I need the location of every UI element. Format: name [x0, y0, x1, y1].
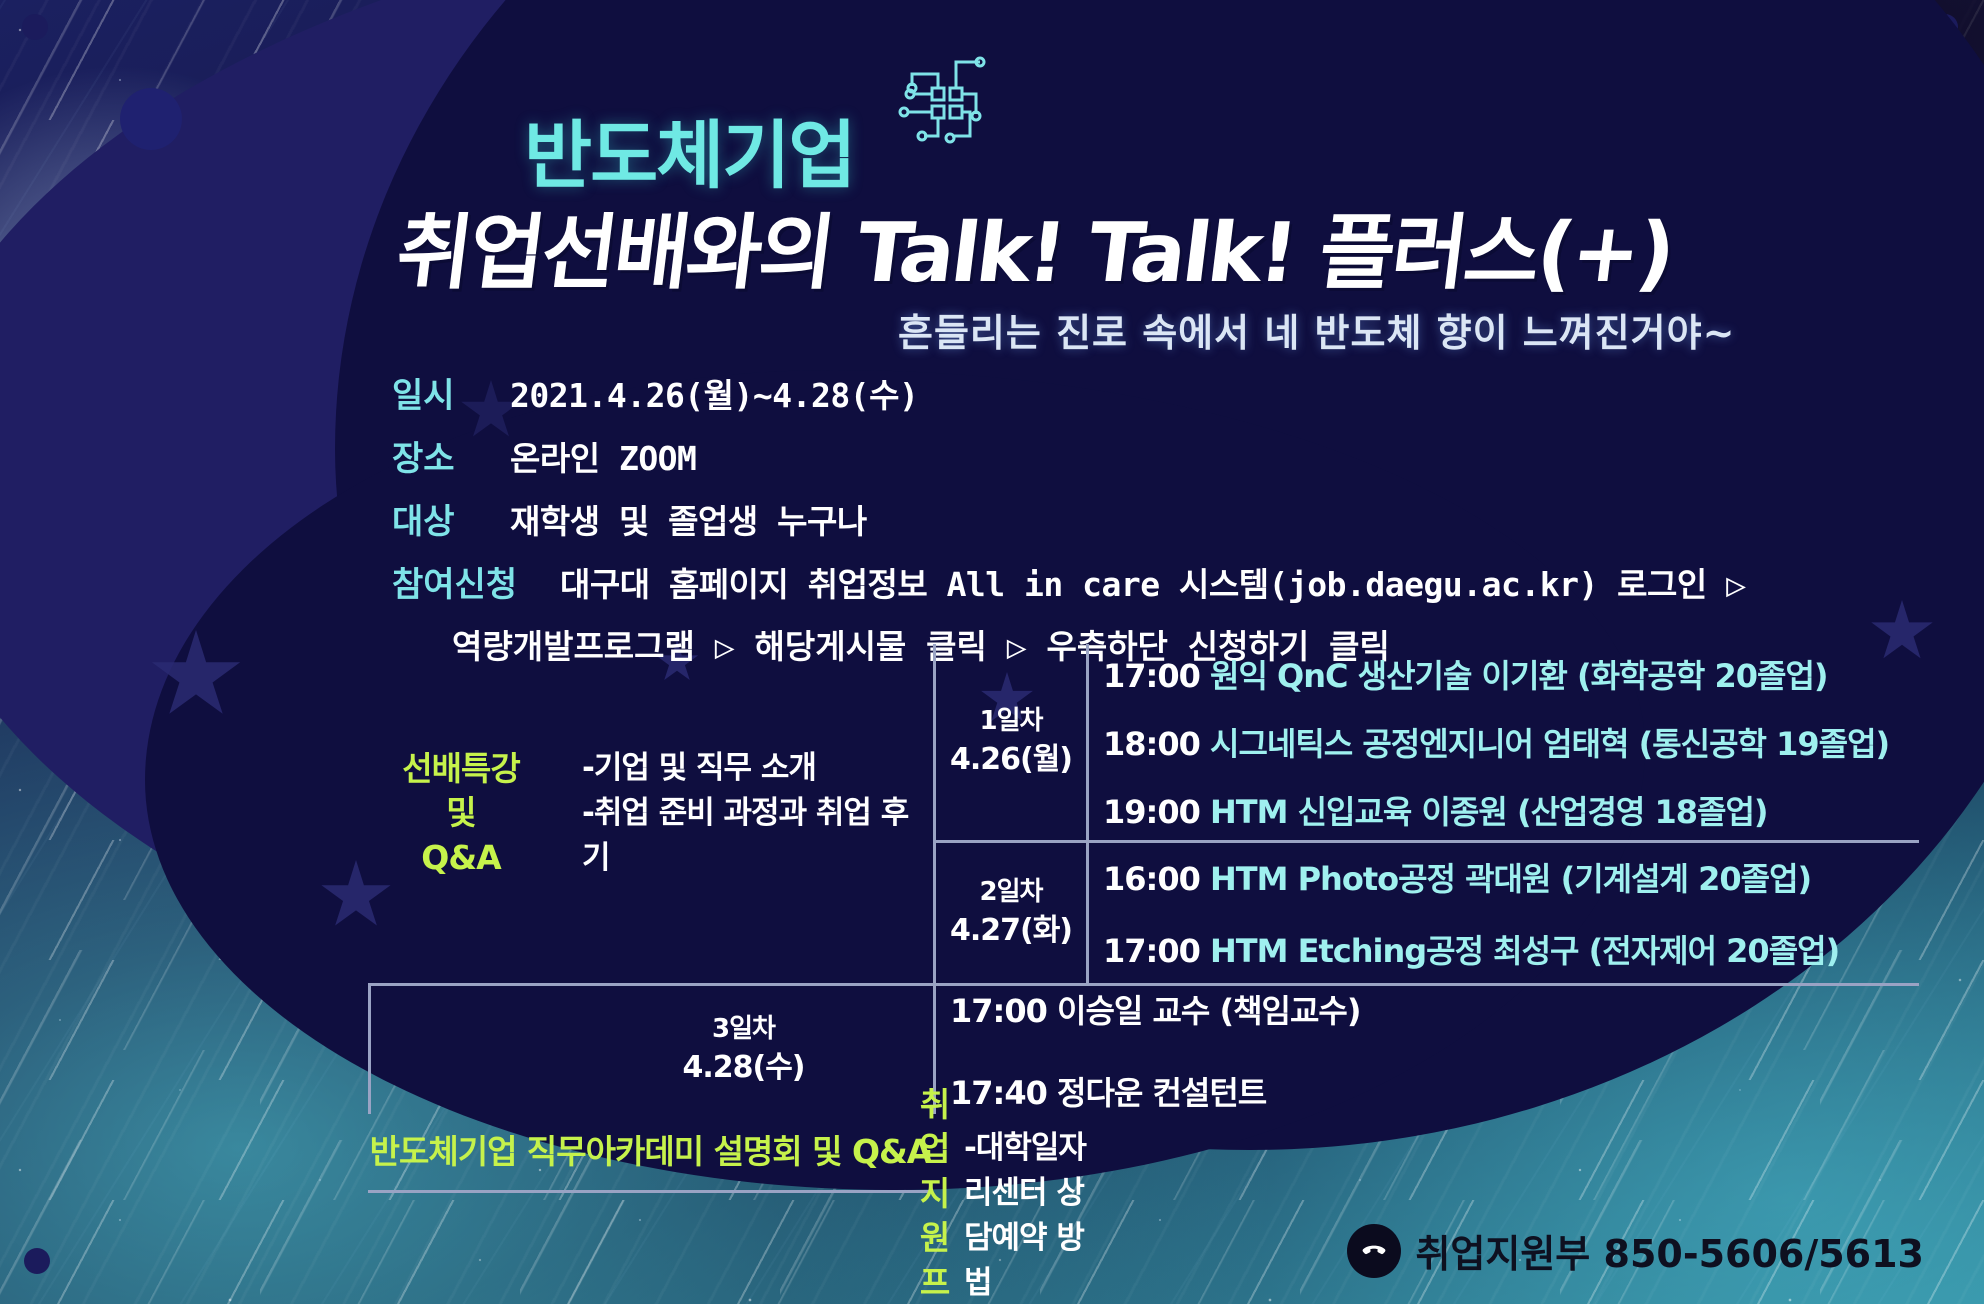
category-line: 선배특강: [402, 747, 519, 792]
session-row: 17:00 이승일 교수 (책임교수): [950, 986, 1086, 1032]
poster-root: 반도체기업: [0, 0, 1984, 1304]
description-line: -기업 및 직무 소개: [582, 746, 933, 791]
contact-block: 취업지원부 850-5606/5613: [1347, 1223, 1924, 1278]
schedule-sessions-day-1: 17:00 원익 QnC 생산기술 이기환 (화학공학 20졸업) 18:00 …: [1089, 644, 1919, 840]
schedule-block-1: 선배특강 및 Q&A -기업 및 직무 소개 -취업 준비 과정과 취업 후기: [368, 644, 1919, 983]
poster-content: 반도체기업: [0, 0, 1984, 1304]
info-value: 재학생 및 졸업생 누구나: [510, 495, 867, 543]
session-time: 16:00: [1103, 860, 1200, 898]
info-value: 대구대 홈페이지 취업정보 All in care 시스템(job.daegu.…: [560, 558, 1746, 606]
session-row: 17:40 정다운 컨설턴트: [950, 1068, 1086, 1114]
session-text: HTM Photo공정 곽대원 (기계설계 20졸업): [1210, 860, 1811, 898]
session-text: HTM Etching공정 최성구 (전자제어 20졸업): [1210, 932, 1839, 970]
session-time: 17:40: [950, 1074, 1047, 1112]
schedule-description: -대학일자리센터 상담예약 방법 -청년고용정책 안내: [964, 1126, 1086, 1304]
schedule-banner-cell: 반도체기업 직무아카데미 설명회 및 Q&A: [368, 1114, 933, 1190]
table-vertical-rule: [368, 986, 371, 1114]
info-label: 참여신청: [392, 557, 560, 606]
info-row-audience: 대상 재학생 및 졸업생 누구나: [392, 494, 1746, 543]
session-row: 16:00 HTM Photo공정 곽대원 (기계설계 20졸업): [1103, 854, 1919, 900]
day-date: 4.26(월): [950, 739, 1072, 781]
schedule-table: 선배특강 및 Q&A -기업 및 직무 소개 -취업 준비 과정과 취업 후기: [368, 644, 1919, 1304]
session-text: HTM 신입교육 이종원 (산업경영 18졸업): [1210, 793, 1768, 831]
tagline: 흔들리는 진로 속에서 네 반도체 향이 느껴진거야~: [898, 302, 1735, 357]
schedule-description: -기업 및 직무 소개 -취업 준비 과정과 취업 후기: [582, 746, 933, 881]
day-number: 1일차: [950, 703, 1072, 739]
schedule-day-label: 2일차 4.27(화): [950, 874, 1072, 952]
schedule-category-label: 선배특강 및 Q&A: [402, 747, 519, 881]
category-line: Q&A: [402, 836, 519, 881]
contact-text: 취업지원부 850-5606/5613: [1415, 1223, 1924, 1278]
table-horizontal-rule: [368, 1190, 933, 1193]
info-row-apply: 참여신청 대구대 홈페이지 취업정보 All in care 시스템(job.d…: [392, 557, 1746, 606]
category-line: 및: [402, 791, 519, 836]
session-text: 원익 QnC 생산기술 이기환 (화학공학 20졸업): [1210, 657, 1828, 695]
info-value: 2021.4.26(월)~4.28(수): [510, 369, 918, 417]
session-row: 17:00 HTM Etching공정 최성구 (전자제어 20졸업): [1103, 926, 1919, 972]
session-text: 정다운 컨설턴트: [1057, 1074, 1266, 1112]
info-row-date: 일시 2021.4.26(월)~4.28(수): [392, 368, 1746, 417]
schedule-day-cell-2: 2일차 4.27(화): [936, 843, 1086, 983]
schedule-day-label: 1일차 4.26(월): [950, 703, 1072, 781]
circuit-chip-icon: [888, 52, 998, 156]
day-number: 3일차: [682, 1011, 804, 1047]
session-time: 18:00: [1103, 725, 1200, 763]
session-row: 18:00 시그네틱스 공정엔지니어 엄태혁 (통신공학 19졸업): [1103, 719, 1919, 765]
schedule-description-cell-2: -대학일자리센터 상담예약 방법 -청년고용정책 안내: [936, 1190, 1086, 1304]
schedule-description-cell: -기업 및 직무 소개 -취업 준비 과정과 취업 후기: [554, 644, 933, 983]
day-number: 2일차: [950, 874, 1072, 910]
session-text: 시그네틱스 공정엔지니어 엄태혁 (통신공학 19졸업): [1210, 725, 1889, 763]
session-text: 이승일 교수 (책임교수): [1057, 992, 1361, 1030]
session-row: 17:00 원익 QnC 생산기술 이기환 (화학공학 20졸업): [1103, 651, 1919, 697]
schedule-day-cell-1: 1일차 4.26(월): [936, 644, 1086, 840]
schedule-sessions-day-2: 16:00 HTM Photo공정 곽대원 (기계설계 20졸업) 17:00 …: [1089, 843, 1919, 983]
schedule-category-cell: 선배특강 및 Q&A: [368, 644, 554, 983]
schedule-banner-label: 반도체기업 직무아카데미 설명회 및 Q&A: [370, 1130, 932, 1175]
info-label: 대상: [392, 494, 510, 543]
phone-icon: [1347, 1224, 1401, 1278]
description-line: -대학일자리센터 상담예약 방법: [964, 1126, 1086, 1304]
info-label: 일시: [392, 368, 510, 417]
schedule-day-cell-3: 3일차 4.28(수): [554, 986, 933, 1114]
page-title: 취업선배와의 Talk! Talk! 플러스(+): [391, 186, 1680, 305]
session-time: 19:00: [1103, 793, 1200, 831]
info-value: 온라인 ZOOM: [510, 432, 696, 480]
session-time: 17:00: [1103, 932, 1200, 970]
session-row: 19:00 HTM 신입교육 이종원 (산업경영 18졸업): [1103, 787, 1919, 833]
schedule-day-label: 3일차 4.28(수): [682, 1011, 804, 1089]
description-line: -취업 준비 과정과 취업 후기: [582, 791, 933, 881]
session-time: 17:00: [1103, 657, 1200, 695]
session-time: 17:00: [950, 992, 1047, 1030]
day-date: 4.28(수): [682, 1047, 804, 1089]
schedule-sessions-day-3: 17:00 이승일 교수 (책임교수) 17:40 정다운 컨설턴트: [936, 986, 1086, 1114]
info-label: 장소: [392, 431, 510, 480]
event-info-block: 일시 2021.4.26(월)~4.28(수) 장소 온라인 ZOOM 대상 재…: [392, 368, 1746, 668]
info-row-place: 장소 온라인 ZOOM: [392, 431, 1746, 480]
day-date: 4.27(화): [950, 910, 1072, 952]
